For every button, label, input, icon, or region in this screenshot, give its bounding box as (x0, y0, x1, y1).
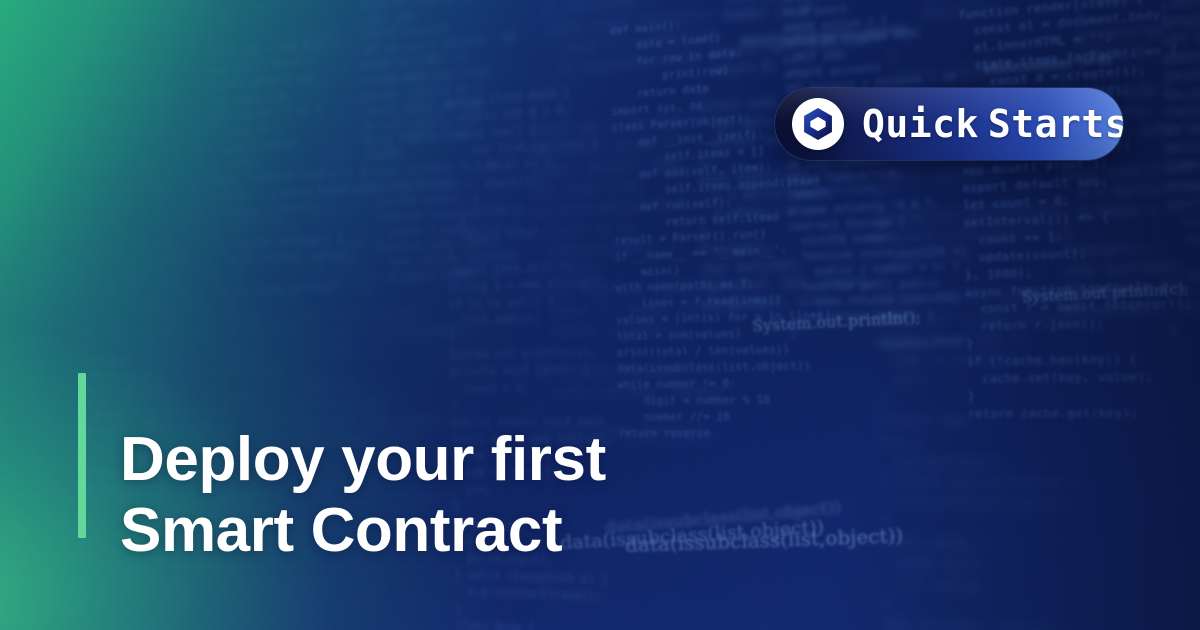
badge-text-quick: Quick (862, 102, 979, 146)
page-title-line-1: Deploy your first (120, 424, 760, 496)
quickstarts-banner: public class Main { static int n = 0; vo… (0, 0, 1200, 630)
headline-accent-bar (78, 373, 86, 538)
badge-text-starts: Starts (988, 102, 1123, 146)
page-title: Deploy your first Smart Contract (120, 424, 760, 568)
quickstarts-badge[interactable]: QuickStarts (775, 88, 1123, 160)
chainlink-logo-circle (792, 98, 844, 150)
quickstarts-badge-label: QuickStarts (862, 105, 1123, 143)
page-title-line-2: Smart Contract (120, 495, 760, 567)
chainlink-hexagon-icon (801, 107, 835, 141)
